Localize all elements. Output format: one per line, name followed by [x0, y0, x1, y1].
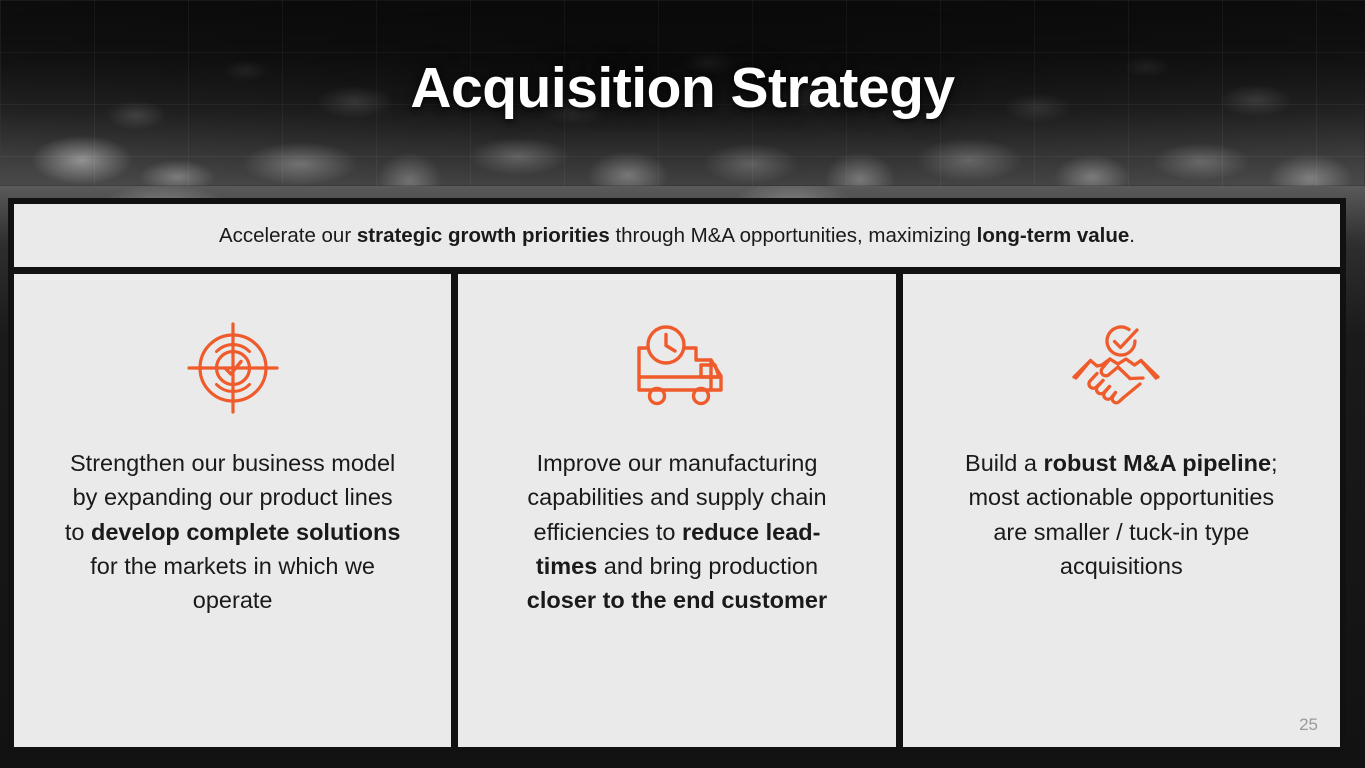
header-banner: Acquisition Strategy [0, 0, 1365, 186]
column-strengthen-business-model: Strengthen our business model by expandi… [14, 274, 451, 747]
handshake-check-icon [1066, 316, 1176, 420]
slide-root: Acquisition Strategy Accelerate our stra… [0, 0, 1365, 768]
column-divider-1 [451, 274, 458, 747]
column-text: Strengthen our business model by expandi… [63, 446, 403, 617]
subtitle-text: Accelerate our strategic growth prioriti… [219, 223, 1135, 249]
target-check-icon [183, 316, 283, 420]
page-number: 25 [1299, 715, 1318, 735]
horizontal-divider [14, 267, 1340, 274]
column-text: Improve our manufacturing capabilities a… [507, 446, 847, 617]
column-text: Build a robust M&A pipeline; most action… [951, 446, 1291, 583]
columns-container: Strengthen our business model by expandi… [14, 274, 1340, 747]
delivery-truck-clock-icon [623, 316, 731, 420]
column-improve-manufacturing: Improve our manufacturing capabilities a… [458, 274, 895, 747]
column-build-ma-pipeline: Build a robust M&A pipeline; most action… [903, 274, 1340, 747]
subtitle-bar: Accelerate our strategic growth prioriti… [14, 204, 1340, 267]
content-frame: Accelerate our strategic growth prioriti… [8, 198, 1346, 753]
page-title: Acquisition Strategy [0, 60, 1365, 117]
column-divider-2 [896, 274, 903, 747]
